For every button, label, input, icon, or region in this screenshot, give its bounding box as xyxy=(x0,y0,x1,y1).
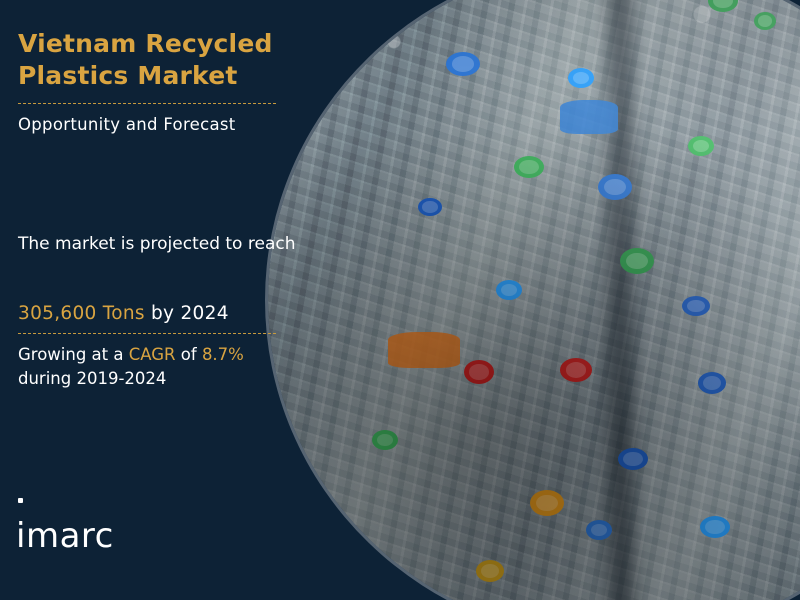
logo-dot-icon xyxy=(18,498,23,503)
title-divider xyxy=(18,103,276,104)
projection-value: 305,600 Tons xyxy=(18,303,145,324)
page-title: Vietnam Recycled Plastics Market xyxy=(18,28,378,92)
projection-statement: 305,600 Tons by 2024 xyxy=(18,303,229,324)
cagr-value: 8.7% xyxy=(202,345,244,364)
cagr-prefix: Growing at a xyxy=(18,345,129,364)
brand-name: imarc xyxy=(16,516,114,556)
projection-year-prefix: by xyxy=(145,303,181,324)
cagr-label: CAGR xyxy=(129,345,176,364)
infographic-canvas: Vietnam Recycled Plastics Market Opportu… xyxy=(0,0,800,600)
cagr-statement: Growing at a CAGR of 8.7% during 2019-20… xyxy=(18,343,348,391)
cagr-period: during 2019-2024 xyxy=(18,369,166,388)
projection-year: 2024 xyxy=(180,303,228,324)
brand-logo: imarc xyxy=(16,516,114,556)
projection-divider xyxy=(18,333,276,334)
text-panel: Vietnam Recycled Plastics Market Opportu… xyxy=(0,0,400,600)
cagr-mid: of xyxy=(176,345,202,364)
projection-label: The market is projected to reach xyxy=(18,232,328,256)
page-subtitle: Opportunity and Forecast xyxy=(18,115,236,134)
